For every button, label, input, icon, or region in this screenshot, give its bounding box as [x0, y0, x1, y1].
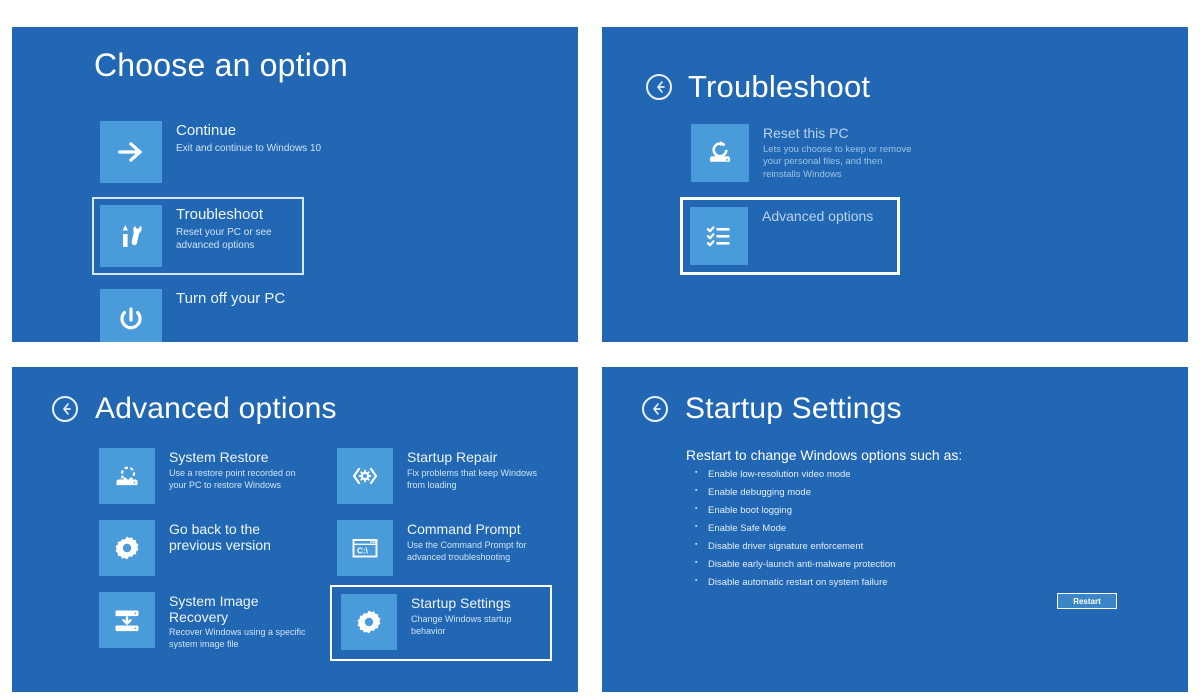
option-title: Startup Repair	[407, 450, 545, 466]
list-item: Enable debugging mode	[708, 488, 895, 498]
checklist-icon	[690, 207, 748, 265]
restart-button[interactable]: Restart	[1057, 593, 1117, 609]
system-image-icon	[99, 592, 155, 648]
option-title: System Restore	[169, 450, 307, 466]
panel-troubleshoot: Troubleshoot Reset this PC Lets you choo…	[602, 27, 1188, 342]
option-title: Advanced options	[762, 209, 873, 225]
option-subtitle: Fix problems that keep Windows from load…	[407, 468, 545, 492]
option-title: Turn off your PC	[176, 291, 285, 308]
option-subtitle: Lets you choose to keep or remove your p…	[763, 144, 913, 182]
startup-repair-icon	[337, 448, 393, 504]
option-system-image-recovery[interactable]: System Image Recovery Recover Windows us…	[94, 587, 312, 659]
page-title-text: Troubleshoot	[688, 69, 870, 105]
option-subtitle: Recover Windows using a specific system …	[169, 627, 307, 651]
option-title: Go back to the previous version	[169, 522, 307, 553]
gear-icon	[99, 520, 155, 576]
page-title-text: Choose an option	[94, 47, 348, 84]
arrow-right-icon	[100, 121, 162, 183]
startup-header: Startup Settings	[642, 392, 902, 426]
panel-startup-settings: Startup Settings Restart to change Windo…	[602, 367, 1188, 692]
option-title: Command Prompt	[407, 522, 545, 538]
page-title-choose: Choose an option	[94, 47, 348, 84]
page-title-text: Startup Settings	[685, 392, 902, 426]
option-continue[interactable]: Continue Exit and continue to Windows 10	[94, 115, 327, 189]
panel-advanced-options: Advanced options System Restore Use a re…	[12, 367, 578, 692]
list-item: Disable driver signature enforcement	[708, 542, 895, 552]
list-item: Disable early-launch anti-malware protec…	[708, 560, 895, 570]
startup-options-list: Enable low-resolution video mode Enable …	[690, 470, 895, 596]
advanced-header: Advanced options	[52, 392, 337, 426]
command-prompt-icon: C:\	[337, 520, 393, 576]
reset-pc-icon	[691, 124, 749, 182]
option-title: Startup Settings	[411, 596, 543, 612]
troubleshoot-header: Troubleshoot	[646, 69, 870, 105]
list-item: Enable boot logging	[708, 506, 895, 516]
list-item: Enable Safe Mode	[708, 524, 895, 534]
option-go-back-previous-version[interactable]: Go back to the previous version	[94, 515, 312, 587]
list-item: Disable automatic restart on system fail…	[708, 578, 895, 588]
option-troubleshoot[interactable]: Troubleshoot Reset your PC or see advanc…	[92, 197, 304, 275]
option-subtitle: Use the Command Prompt for advanced trou…	[407, 540, 545, 564]
option-title: Reset this PC	[763, 126, 913, 142]
back-arrow-icon[interactable]	[646, 74, 672, 100]
option-title: Continue	[176, 123, 321, 140]
back-arrow-icon[interactable]	[642, 396, 668, 422]
troubleshoot-option-list: Reset this PC Lets you choose to keep or…	[686, 119, 918, 285]
option-title: System Image Recovery	[169, 594, 307, 625]
option-startup-settings[interactable]: Startup Settings Change Windows startup …	[330, 585, 552, 661]
option-system-restore[interactable]: System Restore Use a restore point recor…	[94, 443, 312, 515]
option-subtitle: Use a restore point recorded on your PC …	[169, 468, 307, 492]
choose-option-list: Continue Exit and continue to Windows 10…	[94, 115, 327, 342]
back-arrow-icon[interactable]	[52, 396, 78, 422]
option-subtitle: Exit and continue to Windows 10	[176, 142, 321, 155]
option-turn-off-pc[interactable]: Turn off your PC	[94, 283, 327, 342]
recovery-screens-collage: Choose an option Continue Exit and conti…	[0, 0, 1200, 700]
option-title: Troubleshoot	[176, 207, 296, 224]
panel-choose-an-option: Choose an option Continue Exit and conti…	[12, 27, 578, 342]
svg-text:C:\: C:\	[357, 546, 369, 555]
option-startup-repair[interactable]: Startup Repair Fix problems that keep Wi…	[332, 443, 550, 515]
gear-icon	[341, 594, 397, 650]
advanced-option-grid: System Restore Use a restore point recor…	[94, 443, 550, 659]
option-command-prompt[interactable]: C:\ Command Prompt Use the Command Promp…	[332, 515, 550, 587]
option-advanced-options[interactable]: Advanced options	[680, 197, 900, 275]
system-restore-icon	[99, 448, 155, 504]
startup-intro-text: Restart to change Windows options such a…	[686, 447, 962, 463]
option-subtitle: Reset your PC or see advanced options	[176, 226, 296, 253]
page-title-text: Advanced options	[95, 392, 337, 426]
option-subtitle: Change Windows startup behavior	[411, 614, 543, 638]
option-reset-this-pc[interactable]: Reset this PC Lets you choose to keep or…	[686, 119, 918, 187]
list-item: Enable low-resolution video mode	[708, 470, 895, 480]
tools-icon	[100, 205, 162, 267]
power-icon	[100, 289, 162, 342]
